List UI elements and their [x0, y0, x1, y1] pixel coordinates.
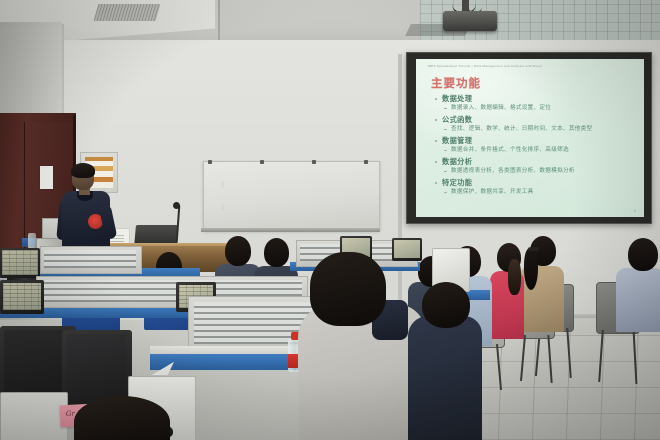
ceiling-vent-icon [94, 4, 161, 21]
slide-title: 主要功能 [431, 75, 481, 91]
monitor-foreground-light-bezel [0, 392, 68, 440]
slide-section-detail: 数据保护、数据共享、开发工具 [434, 188, 636, 197]
slide-section: 数据处理 数据录入、数据编辑、格式设置、定位 [434, 94, 636, 113]
whiteboard-marker-tray [201, 228, 380, 232]
whiteboard-clip [260, 160, 264, 164]
microphone-icon [173, 202, 180, 209]
whiteboard-clip [364, 160, 368, 164]
slide-section-heading: 数据处理 [434, 94, 636, 104]
partition-glass-panel [44, 250, 136, 268]
slide-header-text: WPS Spreadsheet Tutorial | Data Manageme… [428, 64, 634, 68]
slide-section-detail: 数据录入、数据编辑、格式设置、定位 [434, 104, 636, 113]
slide-section-heading: 特定功能 [434, 178, 636, 188]
slide-section-heading: 公式函数 [434, 115, 636, 125]
whiteboard-clip [312, 160, 316, 164]
monitor [0, 248, 40, 278]
presenter-hair [71, 163, 95, 178]
slide-section-heading: 数据分析 [434, 157, 636, 167]
person-head [422, 282, 470, 328]
slide-section: 数据管理 数据合并、条件格式、个性化排序、高级筛选 [434, 136, 636, 155]
person-torso [616, 268, 660, 332]
slide-section-detail: 查找、逻辑、数学、统计、日期时间、文本、其他类型 [434, 125, 636, 134]
monitor [392, 238, 422, 261]
wall-edge-strip [398, 54, 402, 324]
person-hair [508, 259, 521, 295]
person-head [74, 396, 170, 440]
slide-section: 特定功能 数据保护、数据共享、开发工具 [434, 178, 636, 197]
person-head [628, 238, 658, 271]
slide-section-detail: 数据透视表分析、各类图表分析、数据模拟分析 [434, 167, 636, 176]
posted-notice-paper [40, 166, 53, 189]
slide-section-detail: 数据合并、条件格式、个性化排序、高级筛选 [434, 146, 636, 155]
person-hair [524, 248, 538, 290]
whiteboard [203, 161, 380, 231]
slide-section: 数据分析 数据透视表分析、各类图表分析、数据模拟分析 [434, 157, 636, 176]
whiteboard-clip [208, 160, 212, 164]
podium-water-bottle [28, 233, 36, 248]
slide-section: 公式函数 查找、逻辑、数学、统计、日期时间、文本、其他类型 [434, 115, 636, 134]
monitor [0, 280, 44, 314]
projected-slide: WPS Spreadsheet Tutorial | Data Manageme… [416, 59, 644, 217]
person-head [264, 238, 289, 267]
person-head [310, 252, 386, 326]
screen-glare [416, 59, 576, 154]
classroom-photo: WPS Spreadsheet Tutorial | Data Manageme… [0, 0, 660, 440]
monitor-screen [3, 283, 41, 310]
monitor-screen [2, 250, 38, 275]
monitor-screen [394, 240, 420, 258]
whiteboard-erased-writing [222, 182, 359, 210]
slide-page-number: 5 [634, 209, 636, 213]
person-head [225, 236, 251, 266]
ceiling-projector [443, 11, 497, 31]
slide-bullet-list: 数据处理 数据录入、数据编辑、格式设置、定位 公式函数 查找、逻辑、数学、统计、… [434, 94, 636, 199]
eyeglasses-icon [528, 247, 539, 251]
person-torso [408, 316, 482, 440]
slide-section-heading: 数据管理 [434, 136, 636, 146]
projection-screen-frame: WPS Spreadsheet Tutorial | Data Manageme… [406, 52, 652, 224]
